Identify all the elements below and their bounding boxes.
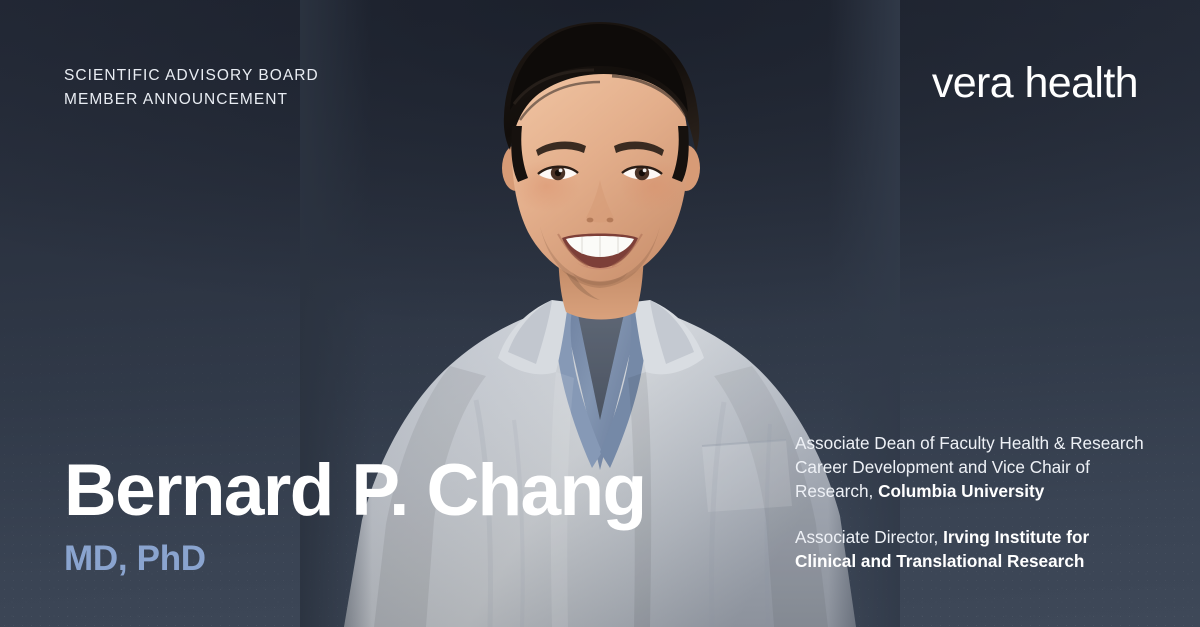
credentials-list: Associate Dean of Faculty Health & Resea… <box>795 431 1155 573</box>
announcement-card: SCIENTIFIC ADVISORY BOARD MEMBER ANNOUNC… <box>0 0 1200 627</box>
credential-role: Associate Director, <box>795 527 943 547</box>
vera-health-logo: vera health <box>932 58 1138 108</box>
person-name: Bernard P. Chang <box>64 452 646 530</box>
announcement-eyebrow: SCIENTIFIC ADVISORY BOARD MEMBER ANNOUNC… <box>64 64 319 112</box>
person-name-block: Bernard P. Chang MD, PhD <box>64 452 646 579</box>
person-degrees: MD, PhD <box>64 539 646 579</box>
credential-institution: Columbia University <box>878 481 1044 501</box>
credential-item: Associate Dean of Faculty Health & Resea… <box>795 431 1155 503</box>
credential-item: Associate Director, Irving Institute for… <box>795 525 1155 573</box>
